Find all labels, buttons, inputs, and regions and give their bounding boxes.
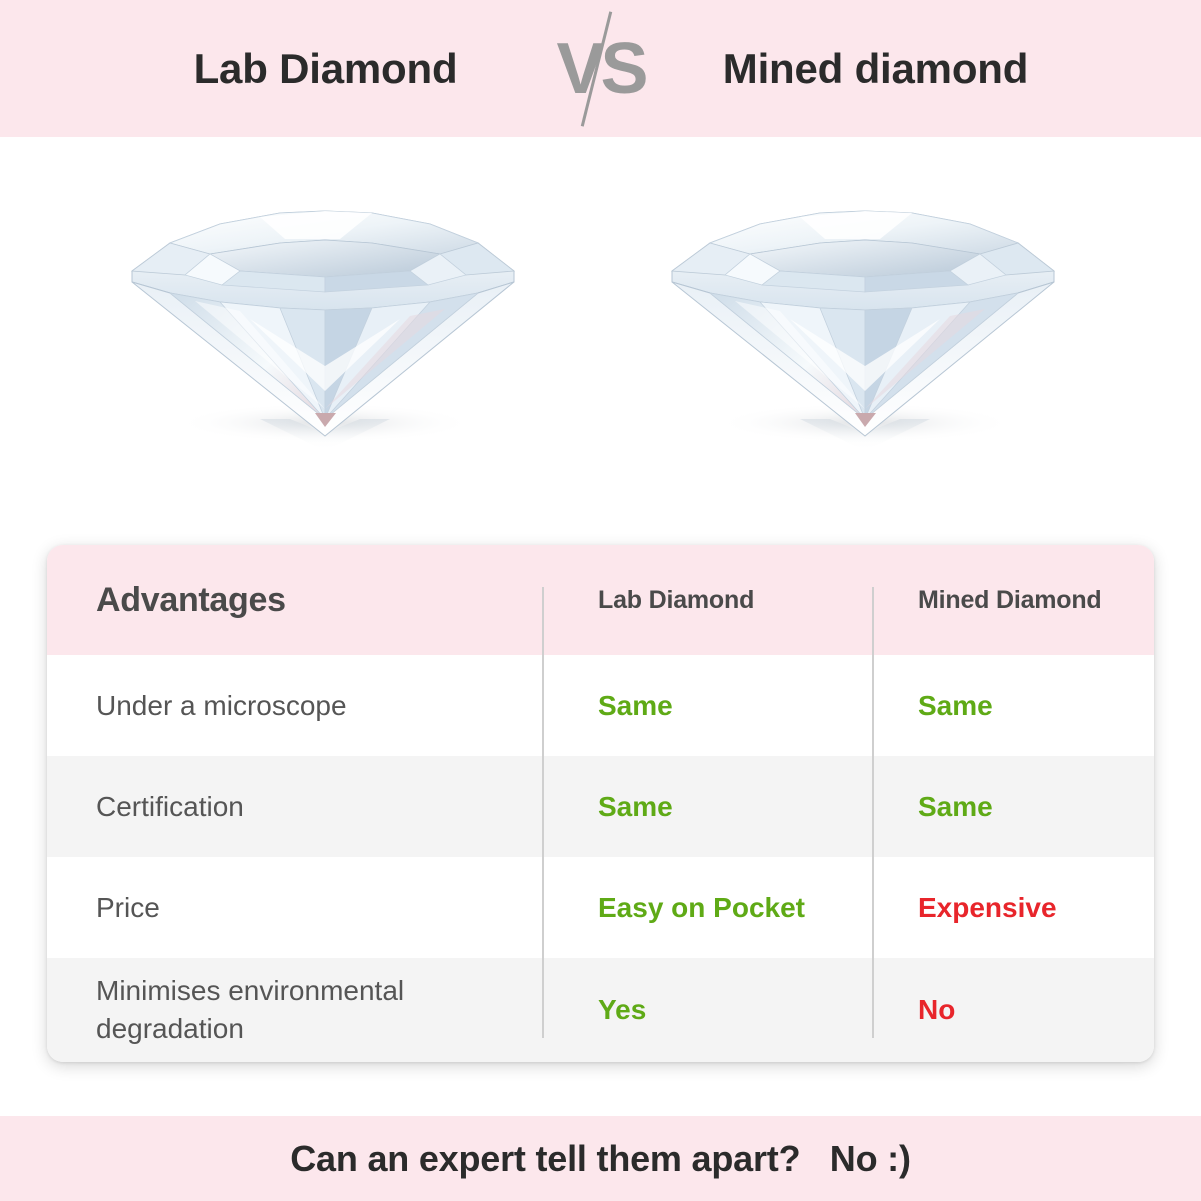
header-cell-mined: Mined Diamond	[872, 586, 1154, 615]
lab-diamond-image	[110, 151, 530, 481]
row-feature-cell: Certification	[47, 788, 542, 826]
table-row: Certification Same Same	[47, 756, 1154, 857]
row-lab-cell: Easy on Pocket	[542, 892, 872, 924]
header-label-mined: Mined Diamond	[918, 586, 1102, 614]
header-cell-advantages: Advantages	[47, 581, 542, 620]
row-mined-cell: No	[872, 994, 1154, 1026]
header-label-advantages: Advantages	[96, 581, 286, 619]
feature-label: Certification	[96, 791, 244, 822]
header-label-lab: Lab Diamond	[598, 586, 754, 614]
infographic-page: Lab Diamond VS Mined diamond	[0, 0, 1201, 1201]
lab-value: Same	[598, 791, 673, 822]
row-feature-cell: Minimises environmental degradation	[47, 972, 542, 1048]
comparison-card: Advantages Lab Diamond Mined Diamond Und…	[47, 545, 1154, 1062]
row-lab-cell: Yes	[542, 994, 872, 1026]
table-row: Under a microscope Same Same	[47, 655, 1154, 756]
row-feature-cell: Under a microscope	[47, 687, 542, 725]
right-product-title: Mined diamond	[661, 45, 1091, 93]
mined-value: Same	[918, 690, 993, 721]
header-cell-lab: Lab Diamond	[542, 586, 872, 615]
diamond-icon	[650, 151, 1070, 481]
lab-value: Easy on Pocket	[598, 892, 805, 923]
footer-question: Can an expert tell them apart? No :)	[290, 1138, 911, 1180]
column-divider-2	[872, 587, 874, 1038]
feature-label: Under a microscope	[96, 690, 347, 721]
table-row: Price Easy on Pocket Expensive	[47, 857, 1154, 958]
mined-value: No	[918, 994, 955, 1025]
feature-label: Minimises environmental degradation	[96, 975, 404, 1044]
feature-label: Price	[96, 892, 160, 923]
left-product-title: Lab Diamond	[111, 45, 541, 93]
row-lab-cell: Same	[542, 791, 872, 823]
row-mined-cell: Expensive	[872, 892, 1154, 924]
table-header-row: Advantages Lab Diamond Mined Diamond	[47, 545, 1154, 655]
diamond-icon	[110, 151, 530, 481]
vs-badge: VS	[541, 0, 661, 137]
bottom-banner: Can an expert tell them apart? No :)	[0, 1116, 1201, 1201]
row-mined-cell: Same	[872, 690, 1154, 722]
comparison-table: Advantages Lab Diamond Mined Diamond Und…	[47, 545, 1154, 1062]
row-feature-cell: Price	[47, 889, 542, 927]
top-banner: Lab Diamond VS Mined diamond	[0, 0, 1201, 137]
row-lab-cell: Same	[542, 690, 872, 722]
column-divider-1	[542, 587, 544, 1038]
mined-value: Same	[918, 791, 993, 822]
diamond-image-area	[0, 137, 1201, 527]
lab-value: Same	[598, 690, 673, 721]
mined-diamond-image	[650, 151, 1070, 481]
row-mined-cell: Same	[872, 791, 1154, 823]
lab-value: Yes	[598, 994, 646, 1025]
mined-value: Expensive	[918, 892, 1057, 923]
table-row: Minimises environmental degradation Yes …	[47, 958, 1154, 1062]
